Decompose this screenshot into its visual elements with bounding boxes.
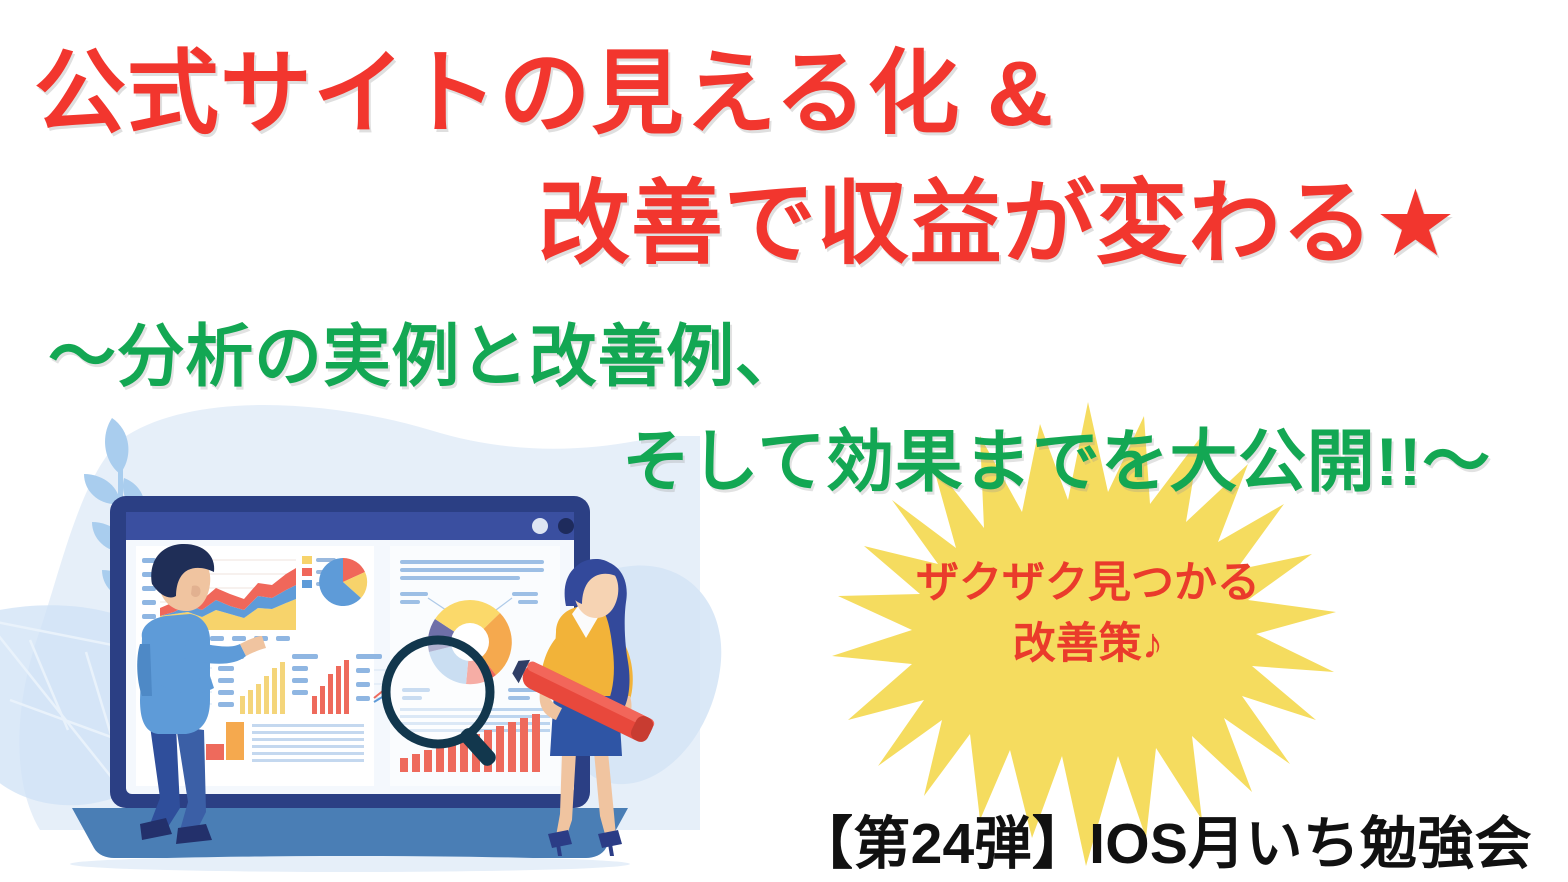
laptop-shadow: [70, 856, 630, 872]
pie-chart: [319, 558, 367, 606]
starburst-line-1: ザクザク見つかる: [828, 553, 1348, 614]
poster-canvas: ザクザク見つかる 改善策♪ 公式サイトの見える化 & 改善で収益が変わる★ 〜分…: [0, 0, 1568, 882]
headline-line-2: 改善で収益が変わる★: [538, 178, 1458, 270]
subheadline-line-1: 〜分析の実例と改善例、: [48, 323, 803, 391]
starburst-text: ザクザク見つかる 改善策♪: [828, 553, 1348, 675]
starburst-line-2: 改善策♪: [828, 614, 1348, 675]
window-dot-light: [532, 518, 548, 534]
subheadline-line-2: そして効果までを大公開!!〜: [622, 428, 1491, 496]
event-title-footer: 【第24弾】IOS月いち勉強会: [796, 798, 1532, 880]
laptop-titlebar: [126, 512, 574, 540]
headline-line-1: 公式サイトの見える化 &: [34, 48, 1054, 140]
window-dot-dark: [558, 518, 574, 534]
